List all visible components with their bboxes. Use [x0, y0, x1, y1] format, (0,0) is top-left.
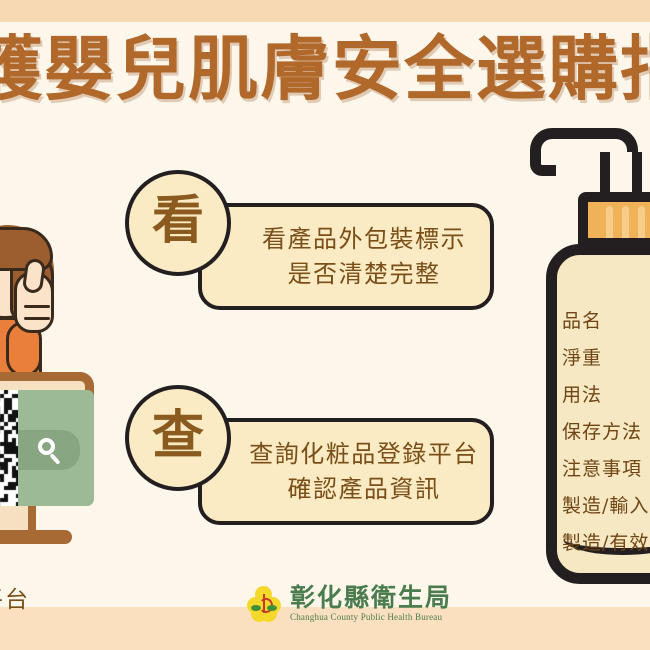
person-finger-line — [24, 317, 50, 320]
step-look-badge: 看 — [125, 170, 231, 276]
bottle-label-item: 製造/輸入 — [562, 497, 650, 516]
monitor-caption: 登錄平台 — [0, 580, 140, 614]
pump-bottle-illustration: 品名 淨重 用法 保存方法 注意事項 製造/輸入 製造/有效 — [522, 128, 650, 588]
bottle-pump-spout — [530, 154, 556, 176]
person-finger-line — [24, 305, 50, 308]
bottle-cap — [578, 192, 650, 248]
bottle-label-item: 淨重 — [562, 349, 650, 368]
computer-monitor-illustration — [0, 372, 108, 562]
step-look-line2: 是否清楚完整 — [288, 257, 441, 292]
monitor-frame — [0, 372, 94, 506]
footer-org-name-zh: 彰化縣衛生局 — [290, 585, 452, 610]
step-look-badge-label: 看 — [152, 195, 204, 247]
thumbs-up-person-illustration — [0, 225, 82, 365]
poster-canvas: 護嬰兒肌膚安全選購指南 看產品外包裝標示 是否清楚完整 看 查詢化粧品登錄平台 … — [0, 0, 650, 650]
step-look-line1: 看產品外包裝標示 — [262, 222, 466, 257]
footer-org-text: 彰化縣衛生局 Changhua County Public Health Bur… — [290, 585, 452, 622]
plum-blossom-icon — [247, 586, 281, 620]
emblem-leaf — [251, 605, 261, 611]
bottle-label-list: 品名 淨重 用法 保存方法 注意事項 製造/輸入 製造/有效 — [562, 312, 650, 571]
bottle-label-item: 品名 — [562, 312, 650, 331]
monitor-screen — [0, 390, 94, 506]
top-decorative-band — [0, 0, 650, 22]
bottle-label-item: 注意事項 — [562, 460, 650, 479]
step-check-line2: 確認產品資訊 — [288, 472, 441, 507]
bottle-label-item: 保存方法 — [562, 423, 650, 442]
monitor-stand-base — [0, 530, 72, 544]
title-container: 護嬰兒肌膚安全選購指南 — [0, 22, 650, 114]
search-icon — [38, 438, 55, 455]
bottle-label-item: 用法 — [562, 386, 650, 405]
footer-logo: 彰化縣衛生局 Changhua County Public Health Bur… — [247, 583, 452, 623]
bottle-label-item: 製造/有效 — [562, 534, 650, 553]
step-check-badge-label: 查 — [152, 410, 204, 462]
page-title: 護嬰兒肌膚安全選購指南 — [0, 26, 650, 112]
step-check: 查詢化粧品登錄平台 確認產品資訊 查 — [125, 385, 505, 530]
monitor-stand-neck — [0, 506, 36, 532]
step-check-textbox: 查詢化粧品登錄平台 確認產品資訊 — [198, 418, 494, 525]
step-look: 看產品外包裝標示 是否清楚完整 看 — [125, 170, 505, 315]
step-look-textbox: 看產品外包裝標示 是否清楚完整 — [198, 203, 494, 310]
step-check-line1: 查詢化粧品登錄平台 — [249, 437, 479, 472]
footer-org-name-en: Changhua County Public Health Bureau — [290, 613, 452, 622]
step-check-badge: 查 — [125, 385, 231, 491]
emblem-leaf — [267, 605, 277, 611]
qr-code-icon — [0, 390, 18, 506]
